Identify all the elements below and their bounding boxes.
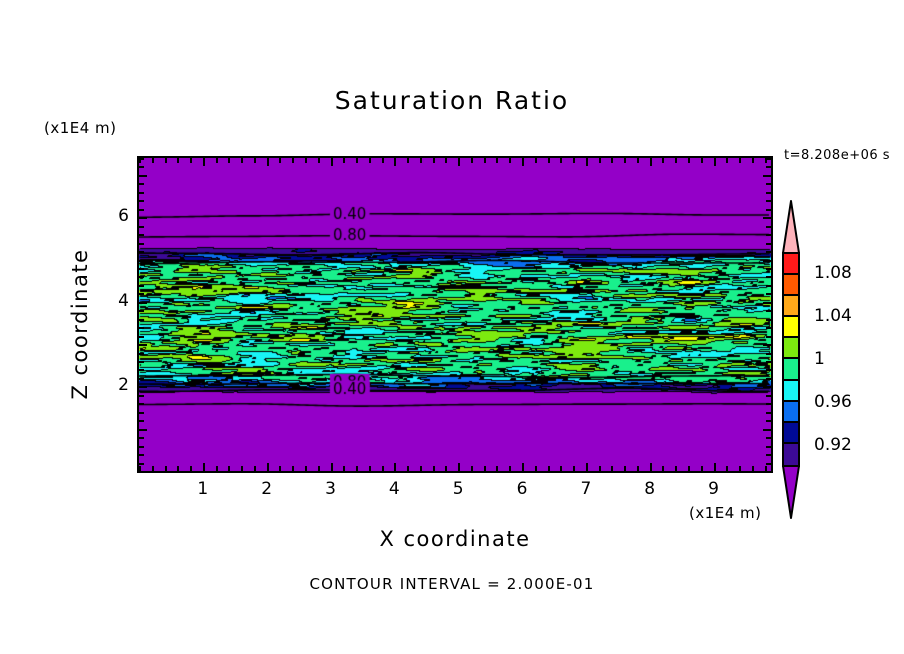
x-tick-top	[292, 158, 294, 163]
x-tick-top	[624, 158, 626, 163]
x-tick-top	[611, 158, 613, 163]
x-tick-top	[573, 158, 575, 163]
colorbar-band	[784, 338, 798, 359]
x-tick-bottom	[714, 463, 716, 471]
y-tick-right	[763, 429, 771, 431]
y-tick-right	[766, 192, 771, 194]
y-tick-right	[766, 310, 771, 312]
colorbar-band	[784, 359, 798, 380]
x-tick-bottom	[496, 466, 498, 471]
x-tick-label: 5	[438, 479, 478, 499]
y-tick-left	[139, 386, 147, 388]
y-tick-label: 4	[107, 291, 129, 311]
x-tick-top	[216, 158, 218, 163]
x-tick-top	[535, 158, 537, 163]
x-tick-bottom	[190, 466, 192, 471]
x-tick-top	[267, 158, 269, 166]
x-tick-top	[190, 158, 192, 163]
y-tick-right	[766, 183, 771, 185]
y-tick-right	[763, 302, 771, 304]
x-tick-bottom	[445, 466, 447, 471]
y-tick-right	[766, 403, 771, 405]
y-tick-right	[766, 268, 771, 270]
x-tick-bottom	[752, 466, 754, 471]
y-tick-left	[139, 463, 144, 465]
y-tick-left	[139, 183, 144, 185]
y-tick-left	[139, 446, 144, 448]
x-tick-bottom	[343, 466, 345, 471]
y-tick-right	[766, 234, 771, 236]
y-axis-title: Z coordinate	[68, 204, 92, 444]
time-annotation: t=8.208e+06 s	[784, 148, 890, 163]
x-tick-top	[637, 158, 639, 163]
y-tick-left	[139, 285, 144, 287]
contour-plot-area[interactable]	[137, 156, 773, 473]
x-tick-top	[228, 158, 230, 163]
x-tick-top	[356, 158, 358, 163]
x-tick-bottom	[688, 466, 690, 471]
colorbar-under-arrow-icon	[782, 465, 800, 519]
x-tick-top	[152, 158, 154, 163]
x-tick-label: 6	[502, 479, 542, 499]
y-tick-right	[766, 158, 771, 160]
y-tick-left	[139, 353, 144, 355]
y-tick-left	[139, 302, 147, 304]
y-tick-left	[139, 327, 144, 329]
y-tick-left	[139, 378, 144, 380]
y-tick-left	[139, 336, 144, 338]
y-tick-left	[139, 226, 144, 228]
x-tick-bottom	[331, 463, 333, 471]
x-tick-top	[675, 158, 677, 163]
y-tick-left	[139, 251, 144, 253]
colorbar-tick-label: 0.92	[814, 435, 852, 455]
y-axis-unit-label: (x1E4 m)	[44, 119, 117, 137]
x-tick-top	[548, 158, 550, 163]
x-tick-bottom	[228, 466, 230, 471]
contour-interval-caption: CONTOUR INTERVAL = 2.000E-01	[0, 575, 904, 593]
y-tick-left	[139, 369, 144, 371]
y-tick-right	[766, 251, 771, 253]
y-tick-right	[766, 369, 771, 371]
y-tick-right	[766, 378, 771, 380]
x-tick-bottom	[292, 466, 294, 471]
x-tick-bottom	[241, 466, 243, 471]
x-tick-bottom	[471, 466, 473, 471]
colorbar-tick-label: 1.04	[814, 306, 852, 326]
y-tick-left	[139, 192, 144, 194]
x-tick-bottom	[458, 463, 460, 471]
x-tick-top	[701, 158, 703, 163]
x-tick-top	[714, 158, 716, 166]
x-tick-bottom	[279, 466, 281, 471]
x-tick-bottom	[662, 466, 664, 471]
y-tick-label: 2	[107, 375, 129, 395]
x-tick-label: 3	[311, 479, 351, 499]
x-tick-top	[522, 158, 524, 166]
x-tick-bottom	[509, 466, 511, 471]
x-tick-bottom	[305, 466, 307, 471]
x-tick-label: 4	[374, 479, 414, 499]
x-tick-bottom	[382, 466, 384, 471]
colorbar-tick-label: 1.08	[814, 263, 852, 283]
x-tick-top	[599, 158, 601, 163]
x-tick-top	[177, 158, 179, 163]
x-tick-top	[331, 158, 333, 166]
y-tick-left	[139, 454, 144, 456]
x-tick-top	[305, 158, 307, 163]
x-tick-top	[496, 158, 498, 163]
x-tick-bottom	[177, 466, 179, 471]
y-tick-right	[766, 226, 771, 228]
x-axis-title: X coordinate	[137, 527, 773, 551]
y-tick-right	[766, 446, 771, 448]
y-tick-right	[763, 386, 771, 388]
y-tick-right	[766, 276, 771, 278]
y-tick-left	[139, 166, 144, 168]
y-tick-left	[139, 420, 144, 422]
x-tick-label: 9	[694, 479, 734, 499]
colorbar-band-stack	[782, 252, 800, 467]
x-tick-bottom	[701, 466, 703, 471]
colorbar-tick-label: 0.96	[814, 392, 852, 412]
colorbar-band	[784, 444, 798, 465]
colorbar-band	[784, 381, 798, 402]
x-tick-label: 7	[566, 479, 606, 499]
x-tick-top	[394, 158, 396, 166]
y-tick-right	[766, 243, 771, 245]
y-tick-right	[766, 327, 771, 329]
x-tick-bottom	[675, 466, 677, 471]
y-tick-left	[139, 217, 147, 219]
x-tick-bottom	[407, 466, 409, 471]
x-tick-bottom	[650, 463, 652, 471]
x-tick-top	[254, 158, 256, 163]
x-tick-bottom	[560, 466, 562, 471]
y-tick-left	[139, 268, 144, 270]
x-tick-top	[739, 158, 741, 163]
x-tick-top	[433, 158, 435, 163]
x-tick-label: 1	[183, 479, 223, 499]
x-tick-bottom	[599, 466, 601, 471]
x-tick-top	[752, 158, 754, 163]
x-tick-bottom	[254, 466, 256, 471]
y-tick-right	[763, 175, 771, 177]
y-tick-right	[766, 166, 771, 168]
x-tick-bottom	[152, 466, 154, 471]
x-tick-top	[407, 158, 409, 163]
y-tick-right	[766, 285, 771, 287]
y-tick-left	[139, 361, 144, 363]
colorbar-over-arrow-icon	[782, 200, 800, 254]
x-tick-top	[318, 158, 320, 163]
y-tick-right	[766, 454, 771, 456]
x-tick-top	[420, 158, 422, 163]
y-tick-right	[763, 344, 771, 346]
x-tick-bottom	[573, 466, 575, 471]
y-tick-left	[139, 344, 147, 346]
x-tick-top	[382, 158, 384, 163]
x-axis-unit-label: (x1E4 m)	[689, 504, 762, 522]
x-tick-bottom	[356, 466, 358, 471]
x-tick-bottom	[484, 466, 486, 471]
y-tick-right	[766, 353, 771, 355]
x-tick-top	[458, 158, 460, 166]
y-tick-left	[139, 471, 147, 473]
y-tick-right	[763, 471, 771, 473]
x-tick-top	[726, 158, 728, 163]
x-tick-top	[241, 158, 243, 163]
y-tick-right	[766, 395, 771, 397]
y-tick-right	[763, 217, 771, 219]
x-tick-bottom	[203, 463, 205, 471]
x-tick-bottom	[394, 463, 396, 471]
x-tick-top	[165, 158, 167, 163]
y-tick-left	[139, 276, 144, 278]
y-tick-left	[139, 429, 147, 431]
x-tick-top	[369, 158, 371, 163]
y-tick-left	[139, 293, 144, 295]
y-tick-label: 6	[107, 206, 129, 226]
y-tick-left	[139, 158, 144, 160]
y-tick-left	[139, 234, 144, 236]
saturation-field-canvas	[139, 158, 771, 471]
x-tick-top	[445, 158, 447, 163]
y-tick-left	[139, 395, 144, 397]
x-tick-label: 8	[630, 479, 670, 499]
y-tick-left	[139, 243, 144, 245]
x-tick-bottom	[420, 466, 422, 471]
y-tick-left	[139, 310, 144, 312]
x-tick-bottom	[165, 466, 167, 471]
x-tick-bottom	[535, 466, 537, 471]
y-tick-right	[766, 336, 771, 338]
y-tick-right	[766, 200, 771, 202]
colorbar-tick-label: 1	[814, 349, 825, 369]
colorbar-band	[784, 296, 798, 317]
x-tick-bottom	[637, 466, 639, 471]
y-tick-left	[139, 209, 144, 211]
y-tick-right	[763, 260, 771, 262]
colorbar-band	[784, 275, 798, 296]
y-tick-left	[139, 412, 144, 414]
x-tick-top	[279, 158, 281, 163]
y-tick-left	[139, 319, 144, 321]
x-tick-top	[509, 158, 511, 163]
x-tick-bottom	[522, 463, 524, 471]
x-tick-top	[662, 158, 664, 163]
y-tick-right	[766, 463, 771, 465]
x-tick-bottom	[216, 466, 218, 471]
y-tick-right	[766, 361, 771, 363]
x-tick-bottom	[369, 466, 371, 471]
x-tick-top	[343, 158, 345, 163]
page-title: Saturation Ratio	[0, 86, 904, 115]
y-tick-left	[139, 175, 147, 177]
x-tick-bottom	[586, 463, 588, 471]
colorbar[interactable]	[778, 200, 804, 518]
colorbar-band	[784, 423, 798, 444]
x-tick-bottom	[267, 463, 269, 471]
x-tick-top	[203, 158, 205, 166]
x-tick-bottom	[318, 466, 320, 471]
y-tick-right	[766, 319, 771, 321]
y-tick-right	[766, 437, 771, 439]
x-tick-top	[650, 158, 652, 166]
colorbar-band	[784, 317, 798, 338]
y-tick-right	[766, 209, 771, 211]
y-tick-right	[766, 420, 771, 422]
x-tick-top	[560, 158, 562, 163]
y-tick-left	[139, 403, 144, 405]
x-tick-top	[471, 158, 473, 163]
x-tick-top	[586, 158, 588, 166]
x-tick-bottom	[624, 466, 626, 471]
x-tick-bottom	[611, 466, 613, 471]
x-tick-bottom	[548, 466, 550, 471]
x-tick-bottom	[726, 466, 728, 471]
x-tick-top	[688, 158, 690, 163]
x-tick-label: 2	[247, 479, 287, 499]
x-tick-top	[484, 158, 486, 163]
y-tick-right	[766, 412, 771, 414]
x-tick-bottom	[739, 466, 741, 471]
colorbar-band	[784, 254, 798, 275]
colorbar-band	[784, 402, 798, 423]
y-tick-left	[139, 437, 144, 439]
y-tick-left	[139, 260, 147, 262]
y-tick-left	[139, 200, 144, 202]
y-tick-right	[766, 293, 771, 295]
x-tick-bottom	[433, 466, 435, 471]
